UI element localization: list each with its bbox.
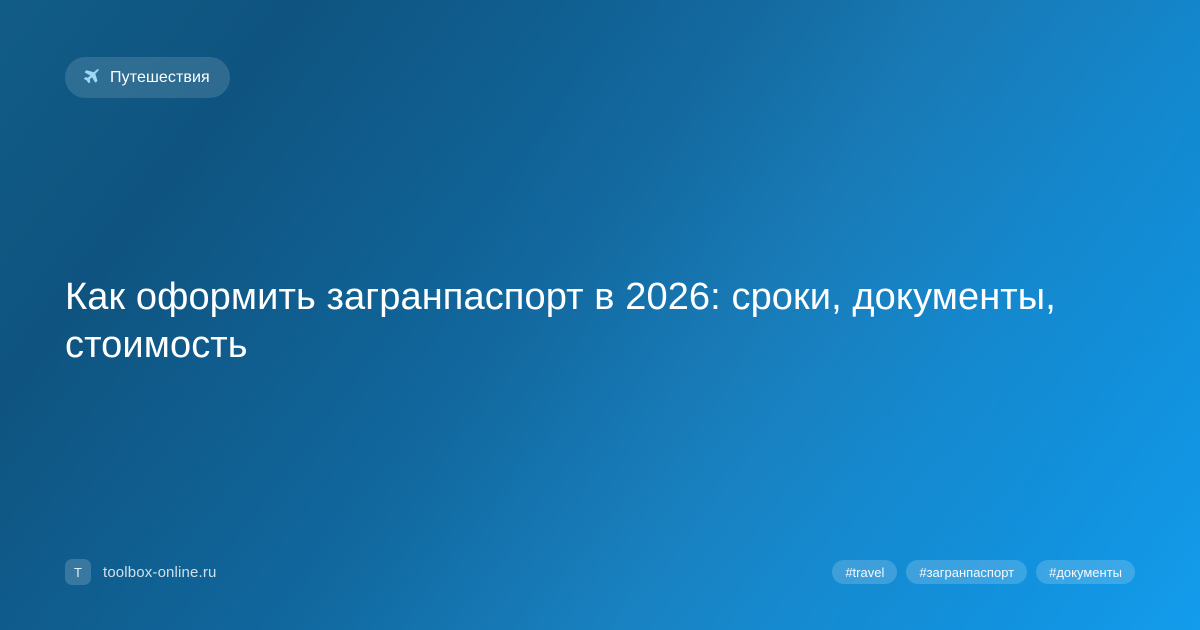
category-badge[interactable]: Путешествия [65, 57, 230, 98]
category-badge-label: Путешествия [110, 70, 210, 86]
tag-travel[interactable]: #travel [832, 560, 897, 584]
airplane-icon [82, 67, 101, 86]
card-footer: T toolbox-online.ru #travel #загранпаспо… [0, 558, 1200, 586]
site-logo-icon: T [65, 559, 91, 585]
tag-list: #travel #загранпаспорт #документы [832, 560, 1135, 584]
page-title: Как оформить загранпаспорт в 2026: сроки… [65, 273, 1075, 369]
tag-zagranpasport[interactable]: #загранпаспорт [906, 560, 1027, 584]
og-preview-card: Путешествия Как оформить загранпаспорт в… [0, 0, 1200, 630]
site-name: toolbox-online.ru [103, 565, 216, 580]
site-brand[interactable]: T toolbox-online.ru [65, 559, 216, 585]
tag-dokumenty[interactable]: #документы [1036, 560, 1135, 584]
